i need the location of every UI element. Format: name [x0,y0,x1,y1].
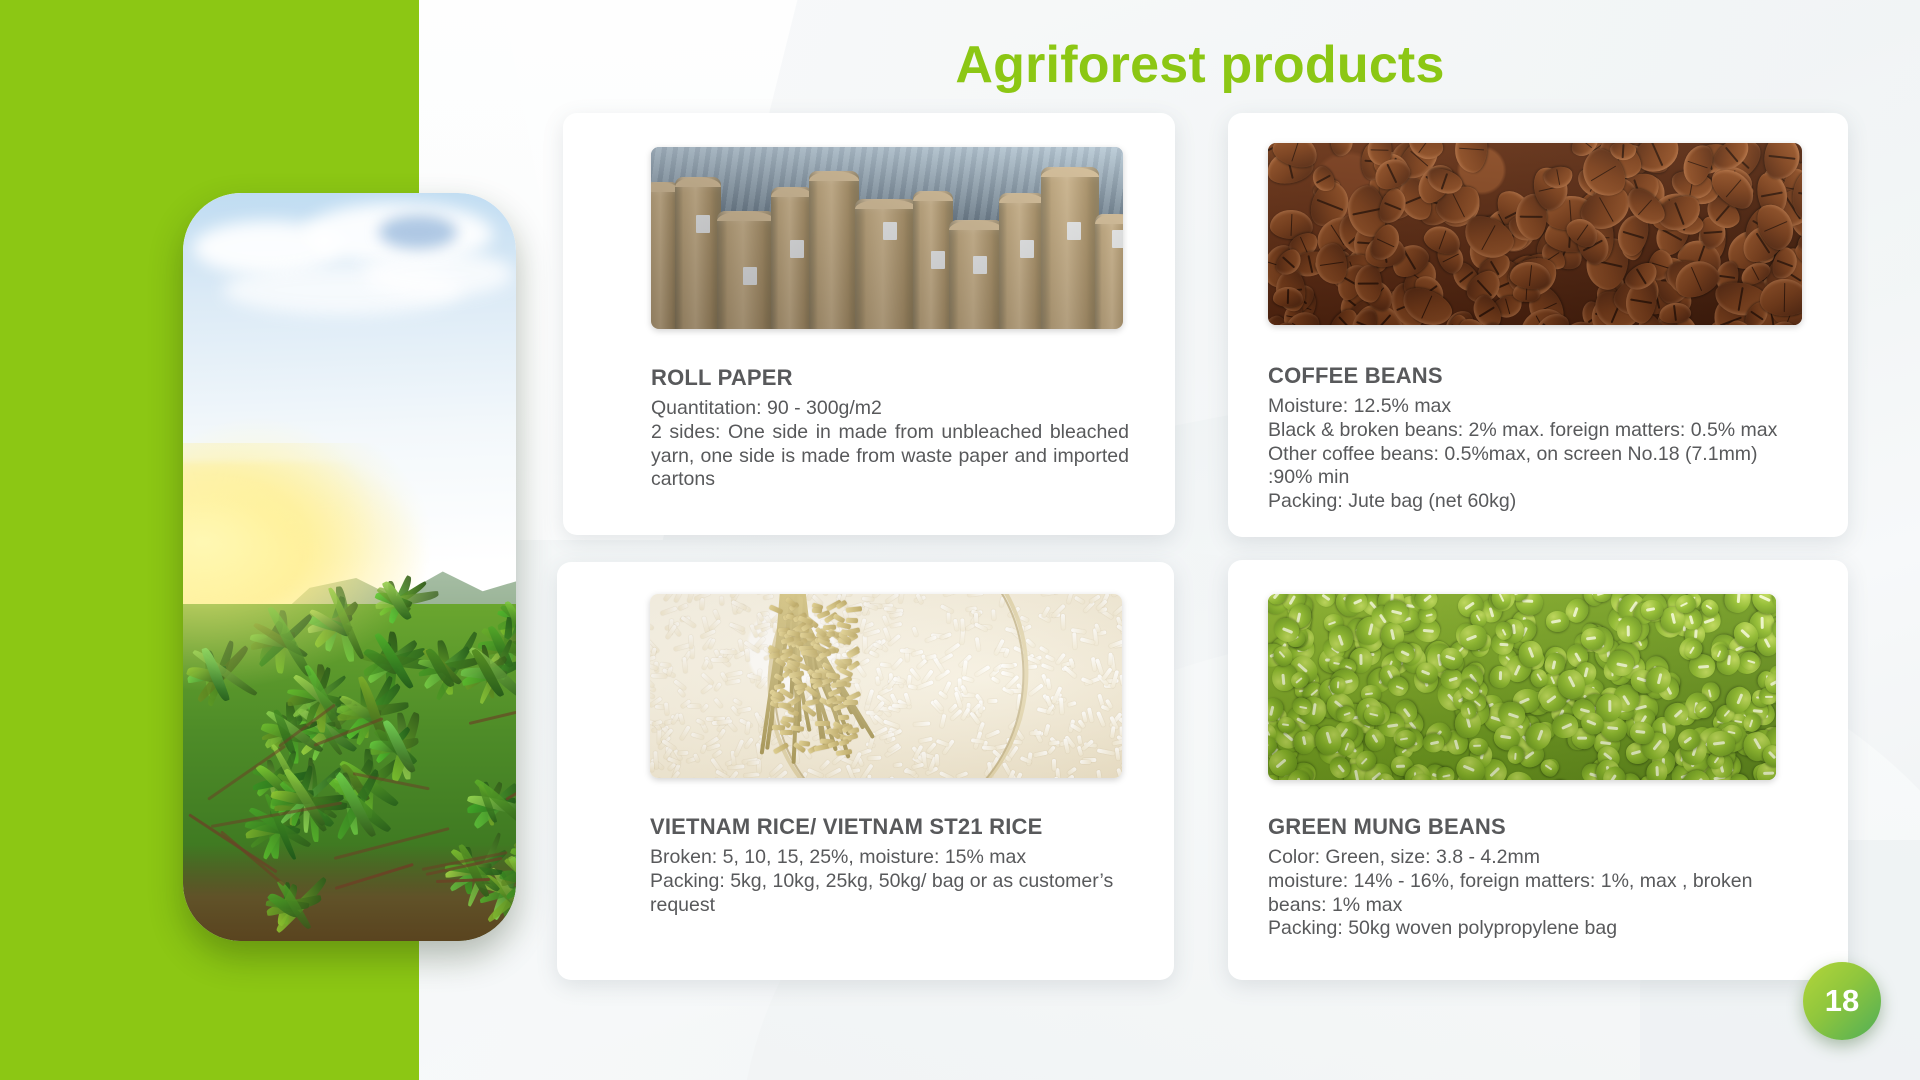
vietnam-rice-body: VIETNAM RICE/ VIETNAM ST21 RICE Broken: … [650,814,1128,917]
vietnam-rice-image [650,594,1122,778]
product-spec-line: :90% min [1268,466,1812,490]
product-card-vietnam-rice[interactable]: VIETNAM RICE/ VIETNAM ST21 RICE Broken: … [557,562,1174,980]
product-spec-line: Broken: 5, 10, 15, 25%, moisture: 15% ma… [650,846,1128,870]
product-card-green-mung-beans[interactable]: GREEN MUNG BEANS Color: Green, size: 3.8… [1228,560,1848,980]
product-card-roll-paper[interactable]: ROLL PAPER Quantitation: 90 - 300g/m2 2 … [563,113,1175,535]
product-card-coffee-beans[interactable]: COFFEE BEANS Moisture: 12.5% max Black &… [1228,113,1848,537]
product-spec-line: 2 sides: One side in made from unbleache… [651,421,1129,492]
coffee-beans-image [1268,143,1802,325]
product-card-grid: ROLL PAPER Quantitation: 90 - 300g/m2 2 … [0,0,1920,1080]
product-spec-line: Color: Green, size: 3.8 - 4.2mm [1268,846,1812,870]
product-title: GREEN MUNG BEANS [1268,814,1812,840]
product-spec-line: Packing: 5kg, 10kg, 25kg, 50kg/ bag or a… [650,870,1128,918]
product-spec-line: Moisture: 12.5% max [1268,395,1812,419]
roll-paper-body: ROLL PAPER Quantitation: 90 - 300g/m2 2 … [651,365,1129,492]
roll-paper-image [651,147,1123,329]
product-spec-line: Packing: Jute bag (net 60kg) [1268,490,1812,514]
green-mung-beans-image [1268,594,1776,780]
product-title: VIETNAM RICE/ VIETNAM ST21 RICE [650,814,1128,840]
product-spec-line: Quantitation: 90 - 300g/m2 [651,397,1129,421]
product-title: COFFEE BEANS [1268,363,1812,389]
page-number-badge: 18 [1803,962,1881,1040]
product-spec-line: Packing: 50kg woven polypropylene bag [1268,917,1812,941]
product-spec-line: moisture: 14% - 16%, foreign matters: 1%… [1268,870,1812,918]
product-spec-line: Black & broken beans: 2% max. foreign ma… [1268,419,1812,443]
product-title: ROLL PAPER [651,365,1129,391]
product-spec-line: Other coffee beans: 0.5%max, on screen N… [1268,443,1812,467]
slide-canvas: Agriforest products ROLL PAPER Quantitat… [0,0,1920,1080]
coffee-beans-body: COFFEE BEANS Moisture: 12.5% max Black &… [1268,363,1812,514]
green-mung-beans-body: GREEN MUNG BEANS Color: Green, size: 3.8… [1268,814,1812,941]
